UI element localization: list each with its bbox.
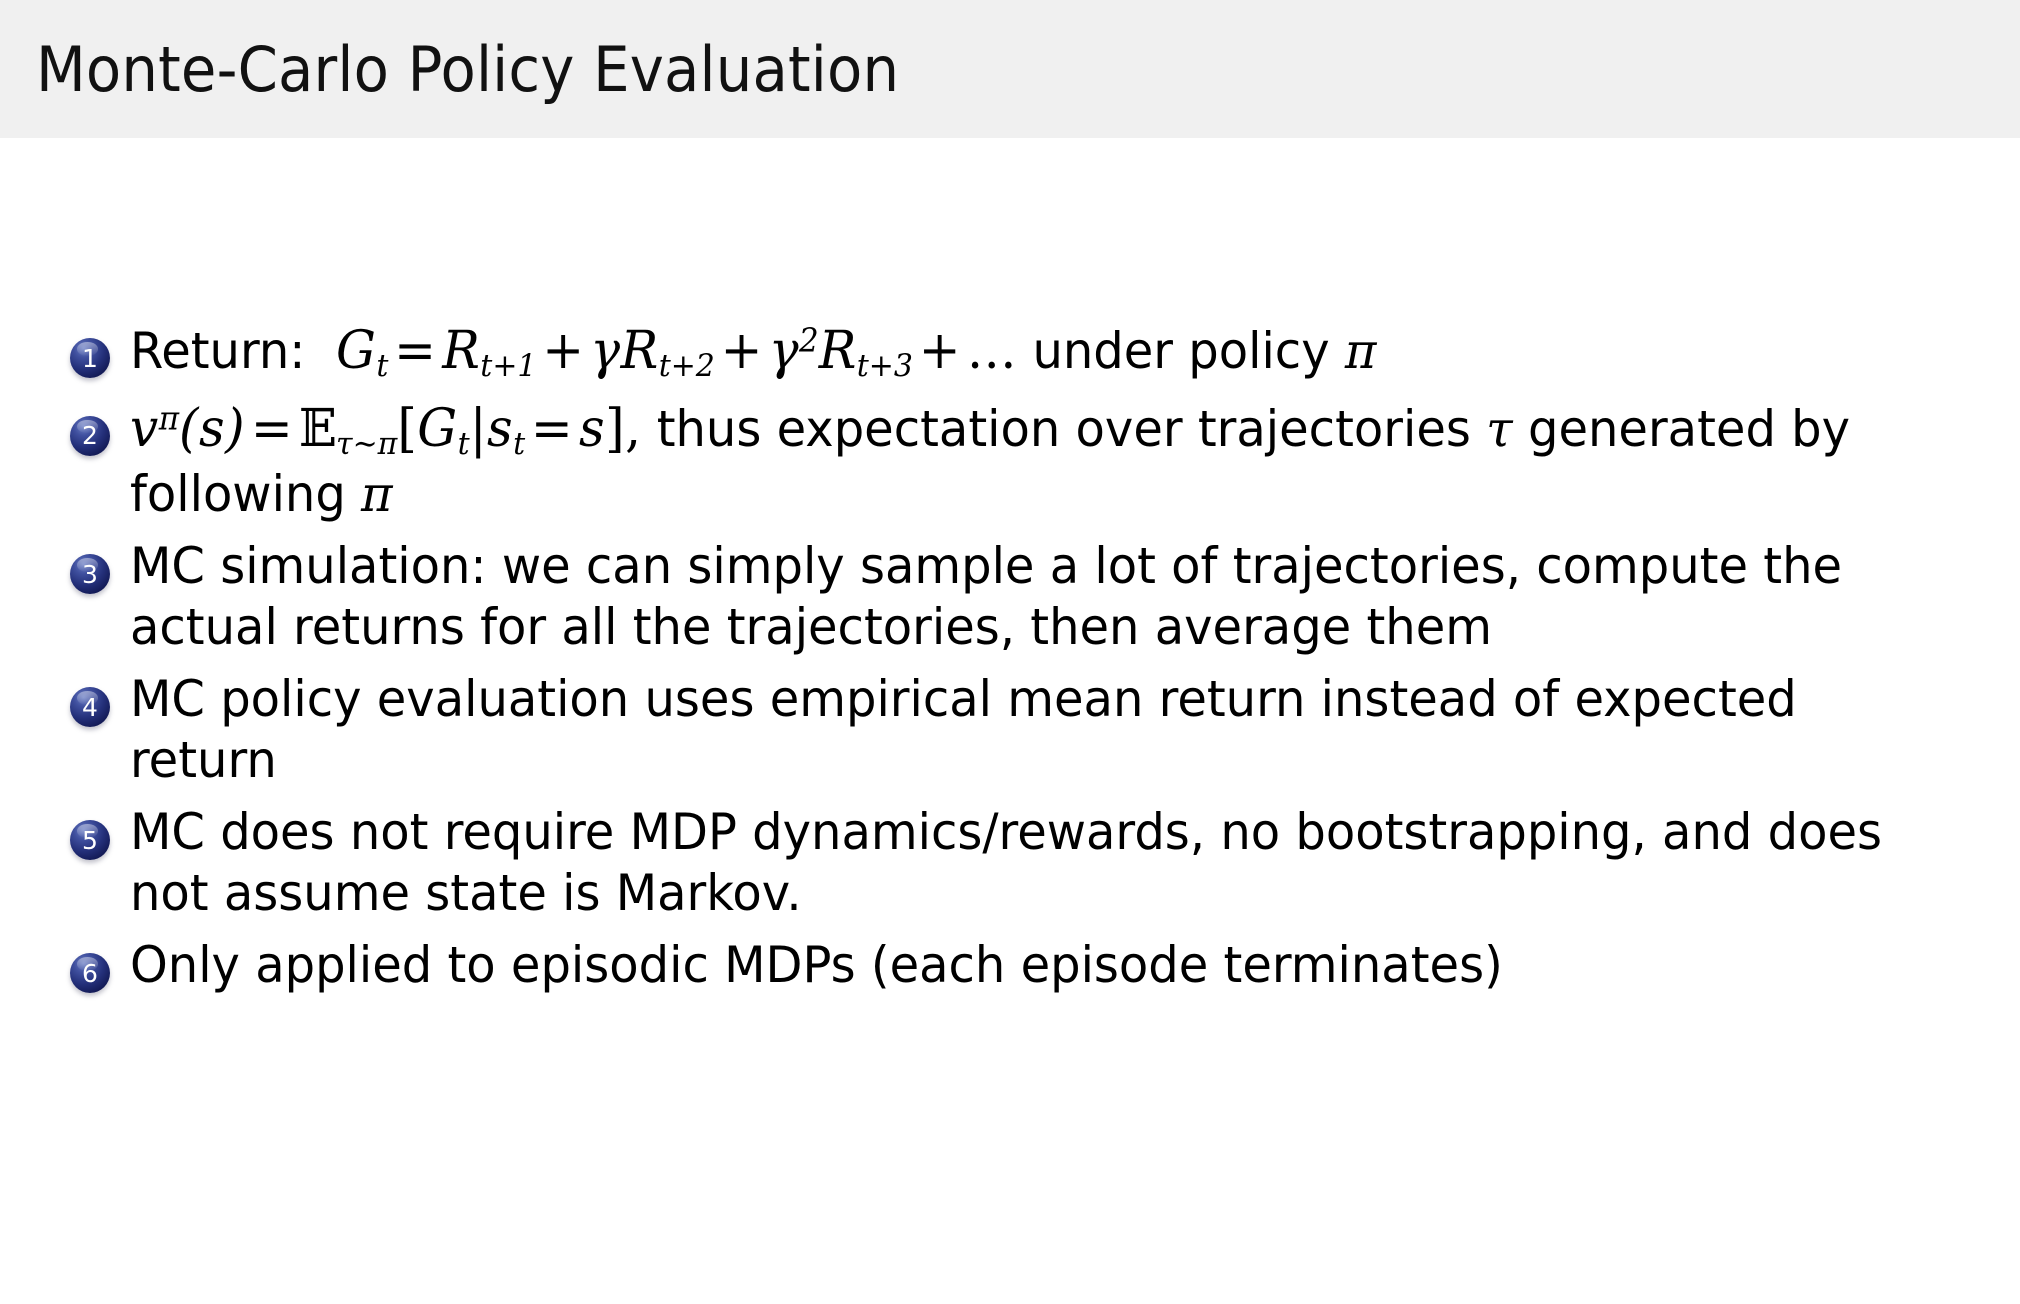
list-marker-number: 1 <box>82 346 98 371</box>
item1-lead: Return: <box>130 322 305 380</box>
list-marker-number: 3 <box>82 562 98 587</box>
item2-tail: thus expectation over trajectories <box>657 400 1471 458</box>
enumerate-list: 1 Return: Gt=Rt+1+γRt+2+γ2Rt+3+… under p… <box>70 320 2000 1008</box>
list-marker-6: 6 <box>70 953 110 993</box>
list-marker-4: 4 <box>70 687 110 727</box>
list-marker-number: 5 <box>82 828 98 853</box>
slide-header: Monte-Carlo Policy Evaluation <box>0 0 2020 138</box>
item2-formula: vπ(s)=𝔼τ∼π[Gt|st=s], <box>130 399 641 459</box>
list-item: 5 MC does not require MDP dynamics/rewar… <box>70 802 2000 923</box>
list-item: 6 Only applied to episodic MDPs (each ep… <box>70 935 2000 996</box>
list-item: 4 MC policy evaluation uses empirical me… <box>70 669 2000 790</box>
item2-pi-symbol: π <box>361 465 393 523</box>
list-marker-1: 1 <box>70 338 110 378</box>
item1-pi-symbol: π <box>1345 322 1377 380</box>
list-item-text: MC policy evaluation uses empirical mean… <box>130 669 1925 790</box>
page-title: Monte-Carlo Policy Evaluation <box>36 33 899 106</box>
list-item-text: vπ(s)=𝔼τ∼π[Gt|st=s], thus expectation ov… <box>130 398 1925 524</box>
list-marker-number: 2 <box>82 423 98 448</box>
list-item: 2 vπ(s)=𝔼τ∼π[Gt|st=s], thus expectation … <box>70 398 2000 524</box>
list-item: 3 MC simulation: we can simply sample a … <box>70 536 2000 657</box>
list-marker-number: 6 <box>82 961 98 986</box>
list-item-text: MC does not require MDP dynamics/rewards… <box>130 802 1925 923</box>
list-marker-number: 4 <box>82 695 98 720</box>
item1-tail: under policy <box>1032 322 1329 380</box>
list-item-text: MC simulation: we can simply sample a lo… <box>130 536 1925 657</box>
list-item-text: Only applied to episodic MDPs (each epis… <box>130 935 1503 996</box>
list-marker-2: 2 <box>70 416 110 456</box>
list-item-text: Return: Gt=Rt+1+γRt+2+γ2Rt+3+… under pol… <box>130 320 1376 386</box>
list-marker-5: 5 <box>70 820 110 860</box>
item2-tau-symbol: τ <box>1486 400 1513 458</box>
list-marker-3: 3 <box>70 554 110 594</box>
slide-body: 1 Return: Gt=Rt+1+γRt+2+γ2Rt+3+… under p… <box>0 138 2020 1304</box>
list-item: 1 Return: Gt=Rt+1+γRt+2+γ2Rt+3+… under p… <box>70 320 2000 386</box>
item1-formula: Gt=Rt+1+γRt+2+γ2Rt+3+… <box>336 321 1017 381</box>
